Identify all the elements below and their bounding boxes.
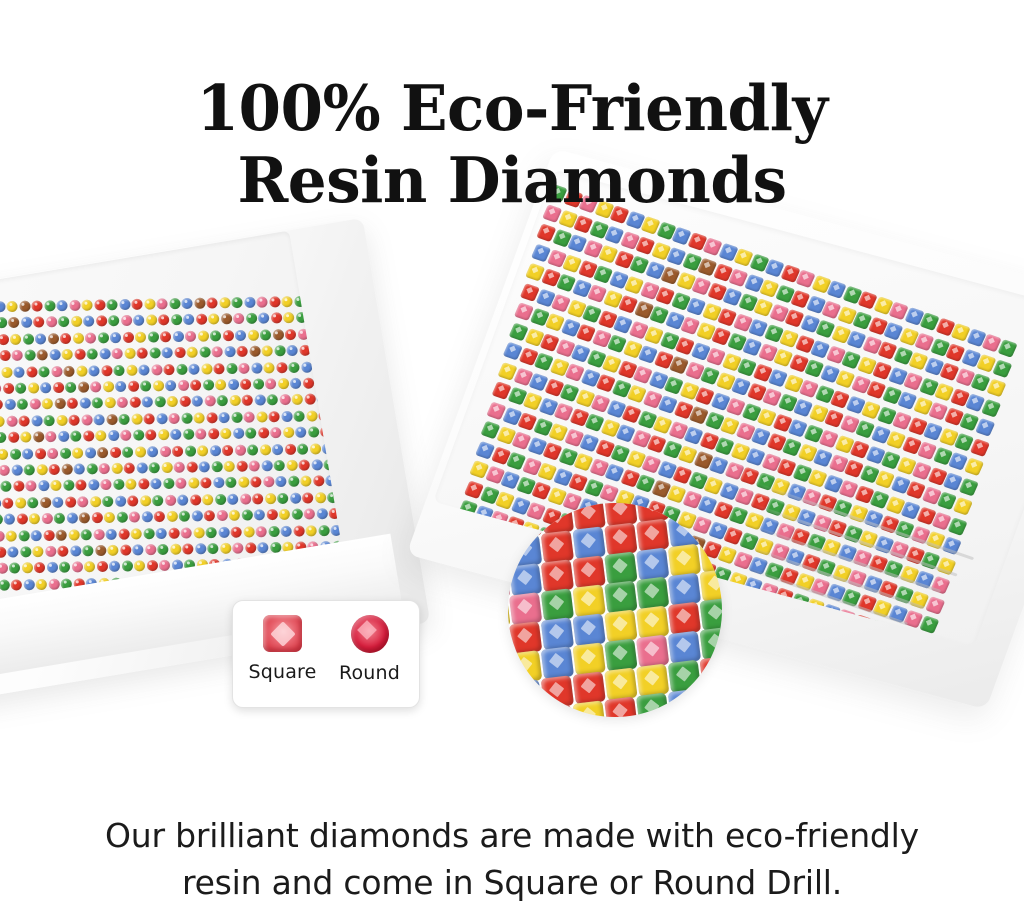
round-drill	[293, 525, 304, 536]
round-drill	[220, 543, 231, 554]
round-drill	[285, 329, 296, 340]
round-drill	[256, 297, 267, 308]
round-drill	[146, 315, 157, 326]
legend-items: Square Round	[233, 601, 419, 684]
round-drill	[222, 330, 233, 341]
round-drill	[56, 415, 67, 426]
round-drill	[141, 511, 152, 522]
square-drill	[699, 627, 722, 660]
round-drill	[0, 563, 8, 574]
round-drill	[45, 546, 56, 557]
round-drill	[63, 480, 74, 491]
drill-row	[0, 312, 333, 330]
drill-row	[0, 475, 341, 493]
round-drill	[100, 479, 111, 490]
round-drill	[293, 411, 304, 422]
round-drill	[60, 333, 71, 344]
round-drill	[119, 299, 130, 310]
round-drill	[0, 350, 10, 361]
round-drill	[82, 545, 93, 556]
round-drill	[22, 448, 33, 459]
round-drill	[258, 427, 269, 438]
round-drill	[158, 429, 169, 440]
round-drill	[49, 464, 60, 475]
round-drill	[83, 316, 94, 327]
round-drill	[28, 382, 39, 393]
round-drill	[227, 494, 238, 505]
legend-label-round: Round	[339, 662, 400, 684]
round-drill	[154, 397, 165, 408]
round-drill	[38, 480, 49, 491]
round-drill	[187, 347, 198, 358]
round-drill	[22, 333, 33, 344]
drill-row	[0, 361, 338, 379]
round-drill	[129, 397, 140, 408]
round-drill	[178, 380, 189, 391]
round-drill	[279, 394, 290, 405]
round-drill	[149, 462, 160, 473]
round-drill	[68, 414, 79, 425]
round-drill	[143, 528, 154, 539]
round-drill	[15, 383, 26, 394]
round-drill	[228, 379, 239, 390]
round-drill	[247, 444, 258, 455]
round-drill	[93, 529, 104, 540]
round-drill	[124, 348, 135, 359]
round-drill	[115, 495, 126, 506]
round-drill	[249, 346, 260, 357]
round-drill	[318, 525, 329, 536]
round-drill	[34, 562, 45, 573]
round-drill	[126, 364, 137, 375]
round-drill	[109, 561, 120, 572]
round-drill	[84, 447, 95, 458]
round-drill	[87, 349, 98, 360]
round-drill	[113, 365, 124, 376]
round-drill	[179, 511, 190, 522]
round-drill	[81, 300, 92, 311]
caption-line-1: Our brilliant diamonds are made with eco…	[0, 813, 1024, 860]
square-drill	[604, 696, 637, 717]
round-drill	[231, 297, 242, 308]
page-title: 100% Eco-Friendly Resin Diamonds	[0, 73, 1024, 215]
round-drill	[146, 560, 157, 571]
round-drill	[186, 461, 197, 472]
round-drill	[245, 542, 256, 553]
round-drill	[6, 301, 17, 312]
round-drill	[140, 495, 151, 506]
drill-shape-legend: Square Round	[232, 600, 420, 708]
round-drill	[77, 496, 88, 507]
round-drill	[272, 444, 283, 455]
round-drill	[150, 478, 161, 489]
round-drill	[1, 367, 12, 378]
round-drill	[109, 446, 120, 457]
round-drill	[206, 297, 217, 308]
round-drill	[168, 527, 179, 538]
legend-item-round: Round	[328, 615, 412, 684]
round-drill	[242, 395, 253, 406]
round-drill	[172, 445, 183, 456]
headline-line-2: Resin Diamonds	[15, 145, 1008, 216]
round-drill	[24, 350, 35, 361]
round-drill	[91, 512, 102, 523]
round-gem-icon	[351, 615, 389, 653]
round-drill	[74, 463, 85, 474]
round-drill	[288, 476, 299, 487]
round-drill	[267, 395, 278, 406]
round-drill	[225, 477, 236, 488]
round-drill	[57, 546, 68, 557]
round-drill	[281, 411, 292, 422]
round-drill	[305, 525, 316, 536]
round-drill	[27, 497, 38, 508]
round-drill	[188, 478, 199, 489]
round-drill	[195, 429, 206, 440]
round-drill	[95, 430, 106, 441]
round-drill	[35, 333, 46, 344]
round-drill	[72, 447, 83, 458]
round-drill	[50, 480, 61, 491]
round-drill	[237, 346, 248, 357]
round-drill	[6, 530, 17, 541]
round-drill	[136, 462, 147, 473]
round-drill	[47, 448, 58, 459]
round-drill	[108, 316, 119, 327]
round-drill	[160, 331, 171, 342]
legend-label-square: Square	[248, 661, 316, 683]
round-drill	[16, 514, 27, 525]
round-drill	[47, 333, 58, 344]
round-drill	[76, 365, 87, 376]
round-drill	[10, 334, 21, 345]
round-drill	[8, 317, 19, 328]
round-drill	[311, 459, 322, 470]
round-drill	[151, 364, 162, 375]
round-drill	[85, 332, 96, 343]
round-drill	[112, 348, 123, 359]
round-drill	[241, 510, 252, 521]
round-drill	[97, 332, 108, 343]
round-drill	[103, 381, 114, 392]
round-drill	[206, 412, 217, 423]
round-drill	[271, 313, 282, 324]
round-drill	[147, 446, 158, 457]
round-drill	[167, 396, 178, 407]
round-drill	[306, 410, 317, 421]
round-drill	[161, 462, 172, 473]
round-drill	[56, 529, 67, 540]
round-drill	[230, 526, 241, 537]
round-drill	[104, 512, 115, 523]
round-drill	[3, 383, 14, 394]
round-drill	[0, 448, 8, 459]
round-drill	[297, 443, 308, 454]
round-drill	[213, 477, 224, 488]
round-drill	[190, 380, 201, 391]
round-drill	[291, 509, 302, 520]
round-drill	[131, 299, 142, 310]
round-drill	[0, 317, 7, 328]
round-drill	[20, 546, 31, 557]
round-drill	[315, 492, 326, 503]
round-drill	[283, 427, 294, 438]
round-drill	[93, 414, 104, 425]
round-drill	[13, 481, 24, 492]
round-drill	[269, 296, 280, 307]
round-drill	[63, 365, 74, 376]
round-drill	[111, 463, 122, 474]
round-drill	[97, 447, 108, 458]
round-drill	[140, 380, 151, 391]
round-drill	[78, 382, 89, 393]
round-drill	[208, 428, 219, 439]
round-drill	[254, 395, 265, 406]
round-drill	[0, 301, 5, 312]
round-drill	[54, 513, 65, 524]
round-drill	[40, 497, 51, 508]
round-drill	[0, 399, 3, 410]
round-drill	[147, 331, 158, 342]
round-drill	[243, 411, 254, 422]
round-drill	[81, 414, 92, 425]
round-drill	[132, 544, 143, 555]
round-drill	[117, 397, 128, 408]
round-drill	[192, 396, 203, 407]
round-drill	[179, 396, 190, 407]
round-drill	[171, 314, 182, 325]
round-drill	[21, 317, 32, 328]
round-drill	[20, 432, 31, 443]
round-drill	[221, 314, 232, 325]
drill-row	[0, 328, 335, 346]
round-drill	[316, 508, 327, 519]
round-drill	[95, 545, 106, 556]
round-drill	[41, 513, 52, 524]
round-drill	[79, 512, 90, 523]
round-drill	[9, 448, 20, 459]
round-drill	[177, 494, 188, 505]
round-drill	[190, 494, 201, 505]
round-drill	[197, 330, 208, 341]
round-drill	[56, 300, 67, 311]
round-drill	[104, 397, 115, 408]
round-drill	[226, 363, 237, 374]
round-drill	[122, 446, 133, 457]
round-drill	[218, 412, 229, 423]
round-drill	[300, 476, 311, 487]
round-drill	[40, 382, 51, 393]
drill-row	[0, 426, 341, 444]
round-drill	[209, 445, 220, 456]
round-drill	[0, 416, 5, 427]
round-drill	[121, 315, 132, 326]
round-drill	[278, 378, 289, 389]
round-drill	[62, 349, 73, 360]
round-drill	[4, 399, 15, 410]
round-drill	[11, 579, 22, 590]
round-drill	[205, 527, 216, 538]
round-drill	[240, 379, 251, 390]
round-drill	[243, 526, 254, 537]
round-drill	[281, 296, 292, 307]
round-drill	[211, 461, 222, 472]
round-drill	[263, 362, 274, 373]
round-drill	[159, 446, 170, 457]
round-drill	[21, 563, 32, 574]
round-drill	[116, 512, 127, 523]
round-drill	[44, 300, 55, 311]
round-drill	[210, 330, 221, 341]
round-drill	[43, 529, 54, 540]
square-drill	[699, 656, 722, 689]
round-drill	[301, 361, 312, 372]
round-drill	[74, 349, 85, 360]
product-caption: Our brilliant diamonds are made with eco…	[0, 813, 1024, 907]
round-drill	[102, 496, 113, 507]
round-drill	[15, 497, 26, 508]
round-drill	[250, 477, 261, 488]
round-drill	[144, 299, 155, 310]
round-drill	[170, 544, 181, 555]
round-drill	[157, 544, 168, 555]
drill-row	[0, 344, 337, 362]
square-drill	[699, 685, 722, 717]
round-drill	[222, 444, 233, 455]
round-drill	[156, 298, 167, 309]
round-drill	[46, 317, 57, 328]
round-drill	[70, 431, 81, 442]
round-drill	[286, 460, 297, 471]
round-drill	[83, 431, 94, 442]
round-drill	[235, 330, 246, 341]
round-drill	[106, 528, 117, 539]
round-drill	[69, 300, 80, 311]
round-drill	[26, 366, 37, 377]
round-drill	[131, 528, 142, 539]
round-drill	[96, 561, 107, 572]
round-drill	[0, 334, 9, 345]
round-drill	[0, 579, 9, 590]
round-drill	[7, 546, 18, 557]
round-drill	[238, 362, 249, 373]
round-drill	[65, 382, 76, 393]
round-drill	[135, 331, 146, 342]
round-drill	[31, 415, 42, 426]
round-drill	[79, 398, 90, 409]
round-drill	[99, 348, 110, 359]
round-drill	[29, 399, 40, 410]
round-drill	[292, 394, 303, 405]
round-drill	[244, 297, 255, 308]
round-drill	[313, 476, 324, 487]
round-drill	[0, 383, 1, 394]
round-drill	[283, 312, 294, 323]
round-drill	[81, 529, 92, 540]
round-drill	[284, 443, 295, 454]
round-drill	[268, 526, 279, 537]
round-drill	[253, 378, 264, 389]
round-drill	[127, 495, 138, 506]
round-drill	[23, 579, 34, 590]
round-drill	[54, 398, 65, 409]
round-drill	[29, 513, 40, 524]
round-drill	[166, 511, 177, 522]
round-drill	[43, 415, 54, 426]
round-drill	[212, 346, 223, 357]
drill-row	[0, 459, 341, 477]
round-drill	[249, 460, 260, 471]
round-drill	[2, 497, 13, 508]
round-drill	[138, 479, 149, 490]
drill-row	[0, 524, 341, 542]
round-drill	[308, 427, 319, 438]
round-drill	[193, 412, 204, 423]
round-drill	[137, 348, 148, 359]
round-drill	[274, 345, 285, 356]
round-drill	[143, 413, 154, 424]
round-drill	[129, 512, 140, 523]
round-drill	[268, 411, 279, 422]
round-drill	[259, 444, 270, 455]
round-drill	[199, 461, 210, 472]
round-drill	[90, 381, 101, 392]
round-drill	[252, 493, 263, 504]
round-drill	[233, 428, 244, 439]
round-drill	[302, 492, 313, 503]
round-drill	[304, 509, 315, 520]
round-drill	[0, 481, 11, 492]
round-drill	[138, 364, 149, 375]
round-drill	[71, 562, 82, 573]
round-drill	[270, 427, 281, 438]
round-drill	[185, 331, 196, 342]
round-drill	[254, 509, 265, 520]
round-drill	[181, 412, 192, 423]
round-drill	[51, 366, 62, 377]
round-drill	[65, 496, 76, 507]
round-drill	[99, 463, 110, 474]
round-drill	[203, 379, 214, 390]
drill-row	[0, 410, 341, 428]
caption-line-2: resin and come in Square or Round Drill.	[0, 860, 1024, 907]
round-drill	[24, 464, 35, 475]
round-drill	[162, 347, 173, 358]
round-drill	[251, 362, 262, 373]
round-drill	[194, 298, 205, 309]
round-drill	[67, 398, 78, 409]
round-drill	[220, 428, 231, 439]
round-drill	[256, 411, 267, 422]
round-drill	[199, 347, 210, 358]
round-drill	[175, 478, 186, 489]
round-drill	[9, 563, 20, 574]
round-drill	[170, 429, 181, 440]
round-drill	[110, 332, 121, 343]
round-drill	[169, 298, 180, 309]
round-drill	[131, 413, 142, 424]
round-drill	[120, 430, 131, 441]
round-drill	[158, 315, 169, 326]
round-drill	[234, 444, 245, 455]
round-drill	[45, 431, 56, 442]
round-drill	[154, 511, 165, 522]
round-drill	[224, 461, 235, 472]
round-drill	[115, 381, 126, 392]
round-drill	[145, 429, 156, 440]
round-drill	[72, 333, 83, 344]
round-drill	[236, 461, 247, 472]
